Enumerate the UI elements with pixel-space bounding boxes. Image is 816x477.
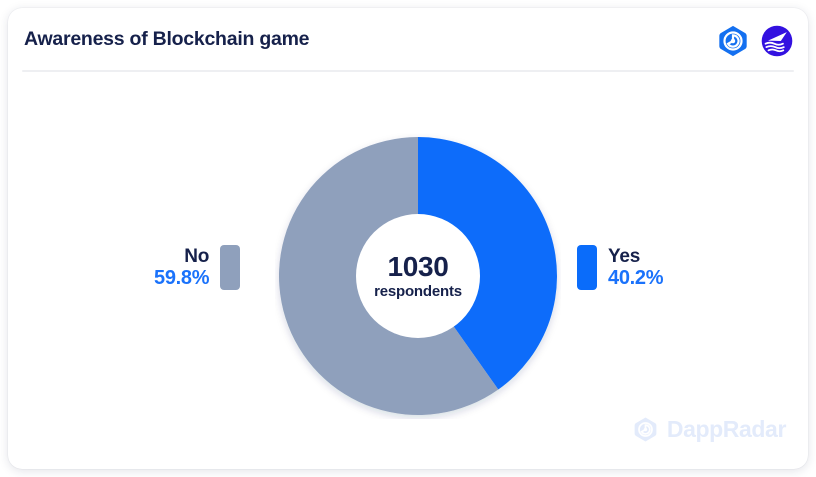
dappradar-hex-logo-icon: [716, 24, 750, 58]
page-title: Awareness of Blockchain game: [24, 28, 309, 51]
watermark-text: DappRadar: [667, 416, 786, 443]
legend-yes-label: Yes: [608, 246, 640, 267]
legend-yes-value: 40.2%: [608, 267, 663, 289]
card-header: Awareness of Blockchain game: [8, 8, 808, 71]
legend-no-text: No 59.8%: [154, 246, 209, 290]
legend-no-label: No: [184, 246, 209, 267]
legend-item-yes: Yes 40.2%: [577, 245, 663, 290]
chart-area: 1030 respondents No 59.8% Yes 40.2%: [8, 71, 808, 469]
header-logo-group: [716, 24, 794, 58]
chart-card: Awareness of Blockchain game: [8, 8, 808, 469]
donut-chart: 1030 respondents: [275, 133, 561, 419]
watermark: DappRadar: [632, 416, 786, 443]
legend-yes-swatch: [577, 245, 597, 290]
screenshot-root: Awareness of Blockchain game: [0, 0, 816, 477]
legend-yes-text: Yes 40.2%: [608, 246, 663, 290]
legend-no-value: 59.8%: [154, 267, 209, 289]
legend-no-swatch: [220, 245, 240, 290]
legend-item-no: No 59.8%: [154, 245, 240, 290]
dappradar-hex-icon: [632, 416, 659, 443]
sail-waves-circle-logo-icon: [760, 24, 794, 58]
